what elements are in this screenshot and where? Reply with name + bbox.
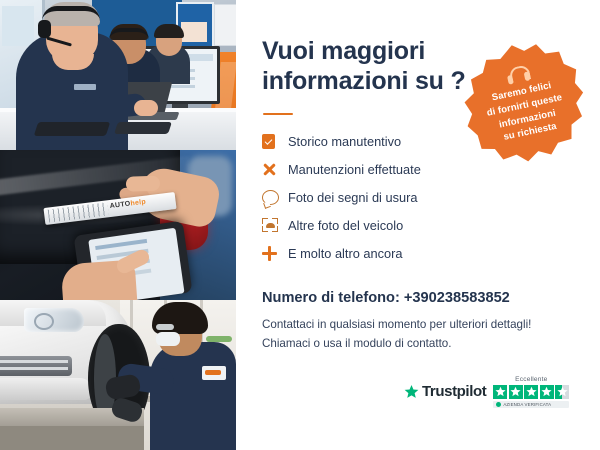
cross-tools-icon: [262, 162, 288, 177]
trustpilot-logo: Trustpilot: [404, 383, 486, 400]
car-bumper-decor: [0, 378, 92, 400]
phone-number-line[interactable]: Numero di telefono: +390238583852: [262, 290, 510, 306]
list-item-label: Altre foto del veicolo: [288, 218, 403, 233]
photo-column: AUTOhelp: [0, 0, 236, 450]
page-title-line-2: informazioni su ?: [262, 66, 472, 96]
trustpilot-name: Trustpilot: [422, 383, 486, 400]
speech-bubble-icon: [262, 190, 288, 205]
title-underline-divider: [263, 113, 293, 115]
list-item: Manutenzioni effettuate: [262, 156, 492, 182]
star-rating: [493, 385, 569, 399]
star-filled-icon: [524, 385, 538, 399]
list-item: Altre foto del veicolo: [262, 212, 492, 238]
contact-text-line-2: Chiamaci o usa il modulo di contatto.: [262, 337, 451, 350]
headlight-decor: [24, 308, 84, 332]
keyboard-decor: [34, 122, 111, 136]
rating-label: Eccellente: [493, 376, 569, 383]
list-item-label: Storico manutentivo: [288, 134, 401, 149]
trustpilot-star-icon: [404, 384, 419, 399]
star-filled-icon: [540, 385, 554, 399]
document-check-icon: [262, 134, 288, 149]
star-filled-icon: [509, 385, 523, 399]
verified-check-icon: [496, 402, 501, 407]
verified-company-label: AZIENDA VERIFICATA: [503, 402, 551, 407]
list-item: E molto altro ancora: [262, 240, 492, 266]
car-grille-decor: [0, 356, 72, 376]
benefits-list: Storico manutentivo Manutenzioni effettu…: [262, 128, 492, 268]
trustpilot-score: Eccellente: [493, 376, 569, 408]
mechanic-tire-photo: [0, 300, 236, 450]
mechanic-decor: [150, 342, 236, 450]
wall-board-decor: [214, 4, 236, 46]
call-center-photo: [0, 0, 236, 150]
contact-text-line-1: Contattaci in qualsiasi momento per ulte…: [262, 318, 531, 331]
page-title: Vuoi maggiori informazioni su ?: [262, 36, 472, 96]
list-item-label: Manutenzioni effettuate: [288, 162, 421, 177]
star-filled-icon: [493, 385, 507, 399]
list-item: Storico manutentivo: [262, 128, 492, 154]
headset-icon: [506, 64, 531, 84]
advertisement-banner: AUTOhelp Vuoi: [0, 0, 600, 450]
list-item-label: Foto dei segni di usura: [288, 190, 417, 205]
operator-hand-decor: [134, 100, 158, 116]
plus-icon: [262, 246, 288, 261]
content-panel: Vuoi maggiori informazioni su ? Saremo f…: [236, 0, 600, 450]
trustpilot-rating[interactable]: Trustpilot Eccellente: [404, 376, 569, 408]
page-title-line-1: Vuoi maggiori: [262, 36, 472, 66]
star-half-icon: [555, 385, 569, 399]
car-inspection-photo: AUTOhelp: [0, 150, 236, 300]
lift-base-decor: [0, 426, 144, 450]
car-frame-icon: [262, 218, 288, 232]
list-item-label: E molto altro ancora: [288, 246, 403, 261]
list-item: Foto dei segni di usura: [262, 184, 492, 210]
verified-company-badge: AZIENDA VERIFICATA: [493, 401, 569, 408]
keyboard-2-decor: [114, 122, 172, 134]
